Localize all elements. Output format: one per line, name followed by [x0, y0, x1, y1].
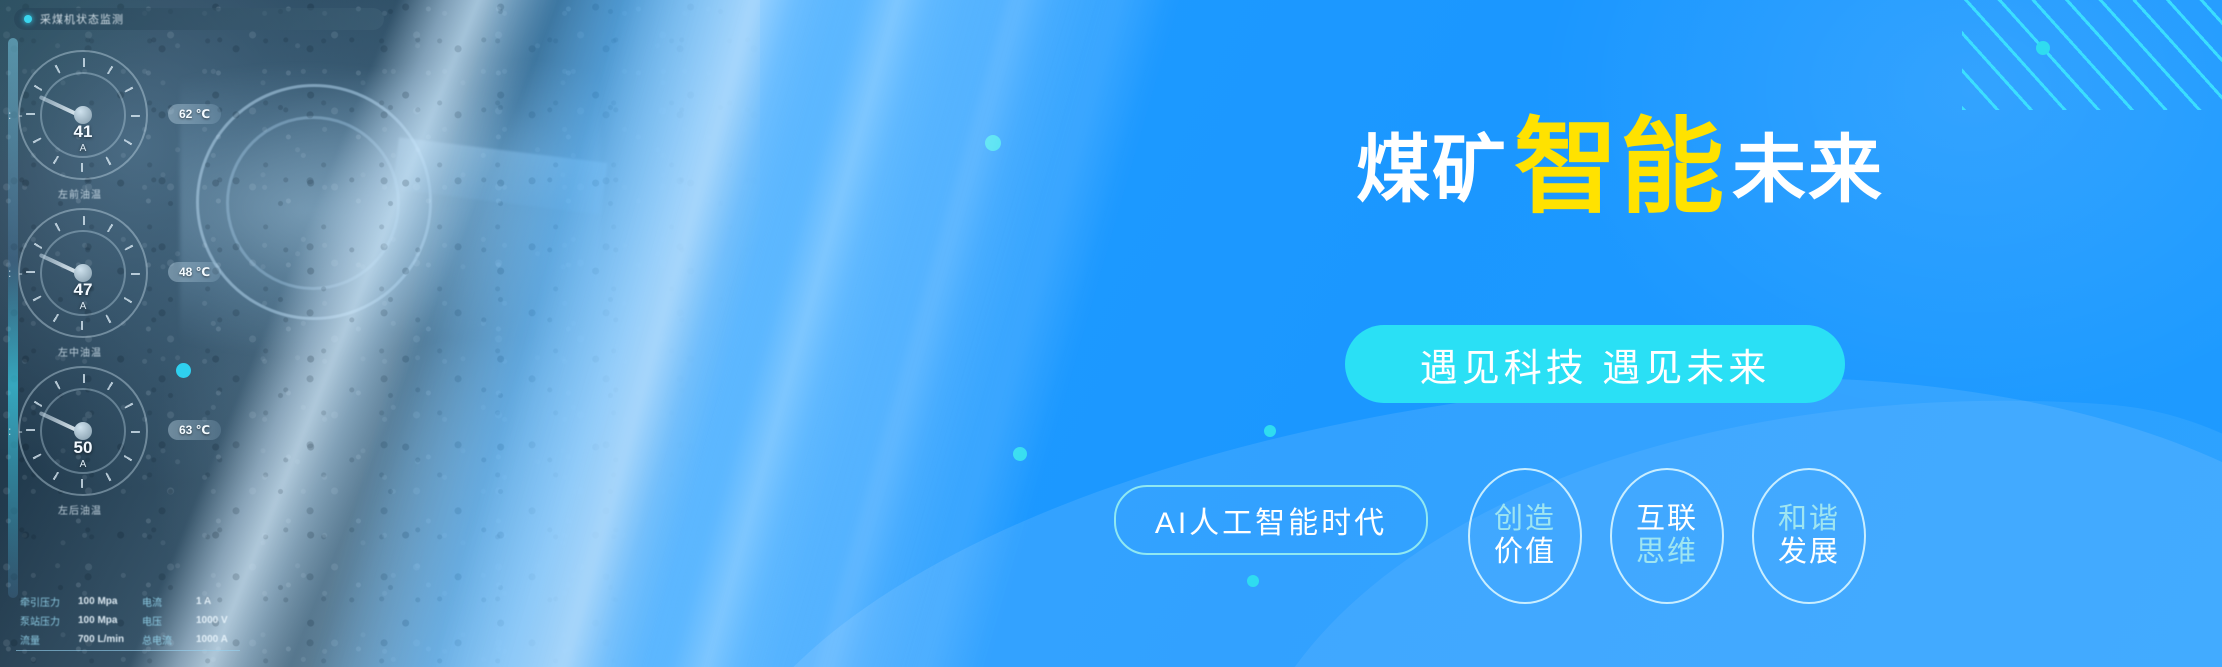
gauge-value: 47 — [18, 280, 148, 300]
table-cell-label: 总电流 — [142, 632, 190, 647]
table-cell-label: 电压 — [142, 613, 190, 628]
decorative-dot — [1013, 447, 1027, 461]
tag-circle-line-2: 发展 — [1778, 537, 1840, 568]
tag-circle-create-value[interactable]: 创造 价值 — [1468, 468, 1582, 604]
headline-highlight: 智能 — [1514, 116, 1726, 220]
gauge-1: 41 A — [18, 50, 148, 180]
gauge-1-marker: : - — [8, 108, 25, 122]
gauge-1-label: 左前油温 — [58, 186, 102, 201]
status-led-icon — [24, 15, 32, 23]
page-title: 煤矿智能未来 — [1120, 108, 2120, 212]
table-cell-label: 泵站压力 — [20, 613, 72, 628]
gauge-1-temperature: 62 ℃ — [168, 104, 221, 124]
table-cell-value: 1000 A — [196, 634, 228, 645]
table-cell-value: 1000 V — [196, 615, 228, 626]
headline-part-1: 煤矿 — [1356, 133, 1508, 207]
gauge-3-temperature: 63 ℃ — [168, 420, 221, 440]
hmi-data-table: 牵引压力 100 Mpa 电流 1 A 泵站压力 100 Mpa 电压 1000… — [20, 592, 230, 649]
hmi-title-bar: 采煤机状态监测 — [14, 8, 384, 30]
gauge-2-temperature: 48 ℃ — [168, 262, 221, 282]
table-cell-label: 流量 — [20, 632, 72, 647]
table-row: 泵站压力 100 Mpa 电压 1000 V — [20, 611, 230, 630]
tag-circle-line-1: 和谐 — [1778, 504, 1840, 535]
subtitle-label: 遇见科技 遇见未来 — [1420, 337, 1771, 392]
table-cell-value: 700 L/min — [78, 634, 136, 645]
light-sweep-band — [700, 0, 1139, 667]
promo-banner: 采煤机状态监测 41 A : - 62 ℃ 左前油温 47 A : - 48 ℃… — [0, 0, 2222, 667]
decorative-dot — [985, 135, 1001, 151]
table-cell-value: 100 Mpa — [78, 615, 136, 626]
tag-pill-ai-era[interactable]: AI人工智能时代 — [1114, 485, 1428, 555]
gauge-unit: A — [18, 143, 148, 154]
table-row: 牵引压力 100 Mpa 电流 1 A — [20, 592, 230, 611]
gauge-2: 47 A — [18, 208, 148, 338]
table-cell-label: 牵引压力 — [20, 594, 72, 609]
gauge-unit: A — [18, 459, 148, 470]
table-cell-label: 电流 — [142, 594, 190, 609]
gauge-unit: A — [18, 301, 148, 312]
tag-pill-label: AI人工智能时代 — [1155, 498, 1387, 542]
gauge-value: 41 — [18, 122, 148, 142]
tag-circle-line-2: 价值 — [1494, 537, 1556, 568]
tag-circle-line-1: 创造 — [1494, 504, 1556, 535]
tag-circle-internet-thinking[interactable]: 互联 思维 — [1610, 468, 1724, 604]
promo-content: 煤矿智能未来 遇见科技 遇见未来 AI人工智能时代 创造 价值 互联 思维 和谐… — [1090, 0, 2150, 667]
gauge-3-marker: : - — [8, 424, 25, 438]
tag-row: AI人工智能时代 创造 价值 互联 思维 和谐 发展 — [1090, 468, 2150, 598]
gauge-3-label: 左后油温 — [58, 502, 102, 517]
headline-part-2: 未来 — [1732, 133, 1884, 207]
gauge-3: 50 A — [18, 366, 148, 496]
tag-circle-line-1: 互联 — [1636, 504, 1698, 535]
hmi-footer-rule — [16, 650, 240, 663]
table-cell-value: 100 Mpa — [78, 596, 136, 607]
table-cell-value: 1 A — [196, 596, 211, 607]
mining-machine-photo: 采煤机状态监测 41 A : - 62 ℃ 左前油温 47 A : - 48 ℃… — [0, 0, 760, 667]
table-row: 流量 700 L/min 总电流 1000 A — [20, 630, 230, 649]
tag-circle-line-2: 思维 — [1636, 537, 1698, 568]
hmi-title-label: 采煤机状态监测 — [40, 11, 124, 27]
subtitle-pill[interactable]: 遇见科技 遇见未来 — [1345, 325, 1845, 403]
gauge-2-label: 左中油温 — [58, 344, 102, 359]
gauge-value: 50 — [18, 438, 148, 458]
gauge-2-marker: : - — [8, 266, 25, 280]
tag-circle-harmonious-development[interactable]: 和谐 发展 — [1752, 468, 1866, 604]
